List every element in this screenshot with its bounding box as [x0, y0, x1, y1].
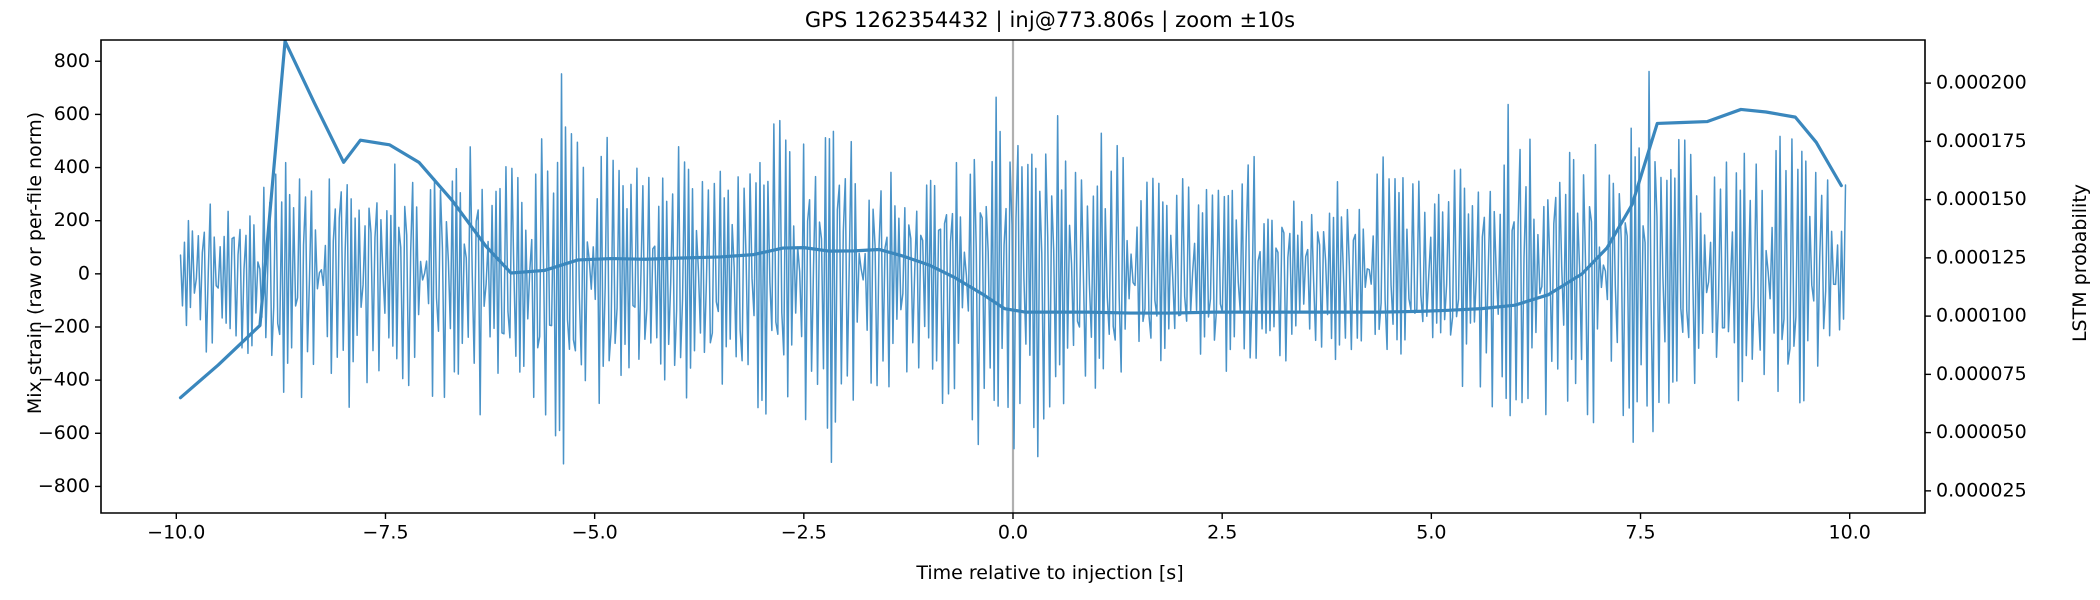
- y-tick-label-right: 0.000050: [1936, 421, 2027, 443]
- y-tick-label-right: 0.000075: [1936, 363, 2027, 385]
- x-tick-label: −10.0: [147, 522, 205, 544]
- x-tick-label: −2.5: [781, 522, 827, 544]
- y-tick-label-right: 0.000100: [1936, 305, 2027, 327]
- y-axis-label-right: LSTM probability: [2069, 13, 2091, 513]
- chart-title: GPS 1262354432 | inj@773.806s | zoom ±10…: [0, 8, 2100, 32]
- y-tick-label-right: 0.000175: [1936, 130, 2027, 152]
- x-tick-label: −5.0: [572, 522, 618, 544]
- y-tick-label-right: 0.000150: [1936, 188, 2027, 210]
- figure-canvas: −10.0−7.5−5.0−2.50.02.55.07.510.08006004…: [0, 0, 2100, 600]
- x-tick-label: 7.5: [1625, 522, 1655, 544]
- x-tick-label: 2.5: [1207, 522, 1237, 544]
- y-tick-label-left: 0: [78, 262, 90, 284]
- y-tick-label-left: 800: [54, 50, 90, 72]
- chart-plot-area: −10.0−7.5−5.0−2.50.02.55.07.510.08006004…: [0, 0, 2100, 600]
- y-tick-label-left: 600: [54, 103, 90, 125]
- y-tick-label-right: 0.000200: [1936, 72, 2027, 94]
- x-tick-label: 5.0: [1416, 522, 1446, 544]
- y-axis-label-left: Mix strain (raw or per-file norm): [24, 13, 46, 513]
- x-tick-label: 10.0: [1829, 522, 1871, 544]
- y-tick-label-left: 400: [54, 156, 90, 178]
- x-tick-label: −7.5: [362, 522, 408, 544]
- x-tick-label: 0.0: [998, 522, 1028, 544]
- y-tick-label-right: 0.000125: [1936, 246, 2027, 268]
- y-tick-label-right: 0.000025: [1936, 479, 2027, 501]
- x-axis-label: Time relative to injection [s]: [0, 562, 2100, 584]
- y-tick-label-left: 200: [54, 209, 90, 231]
